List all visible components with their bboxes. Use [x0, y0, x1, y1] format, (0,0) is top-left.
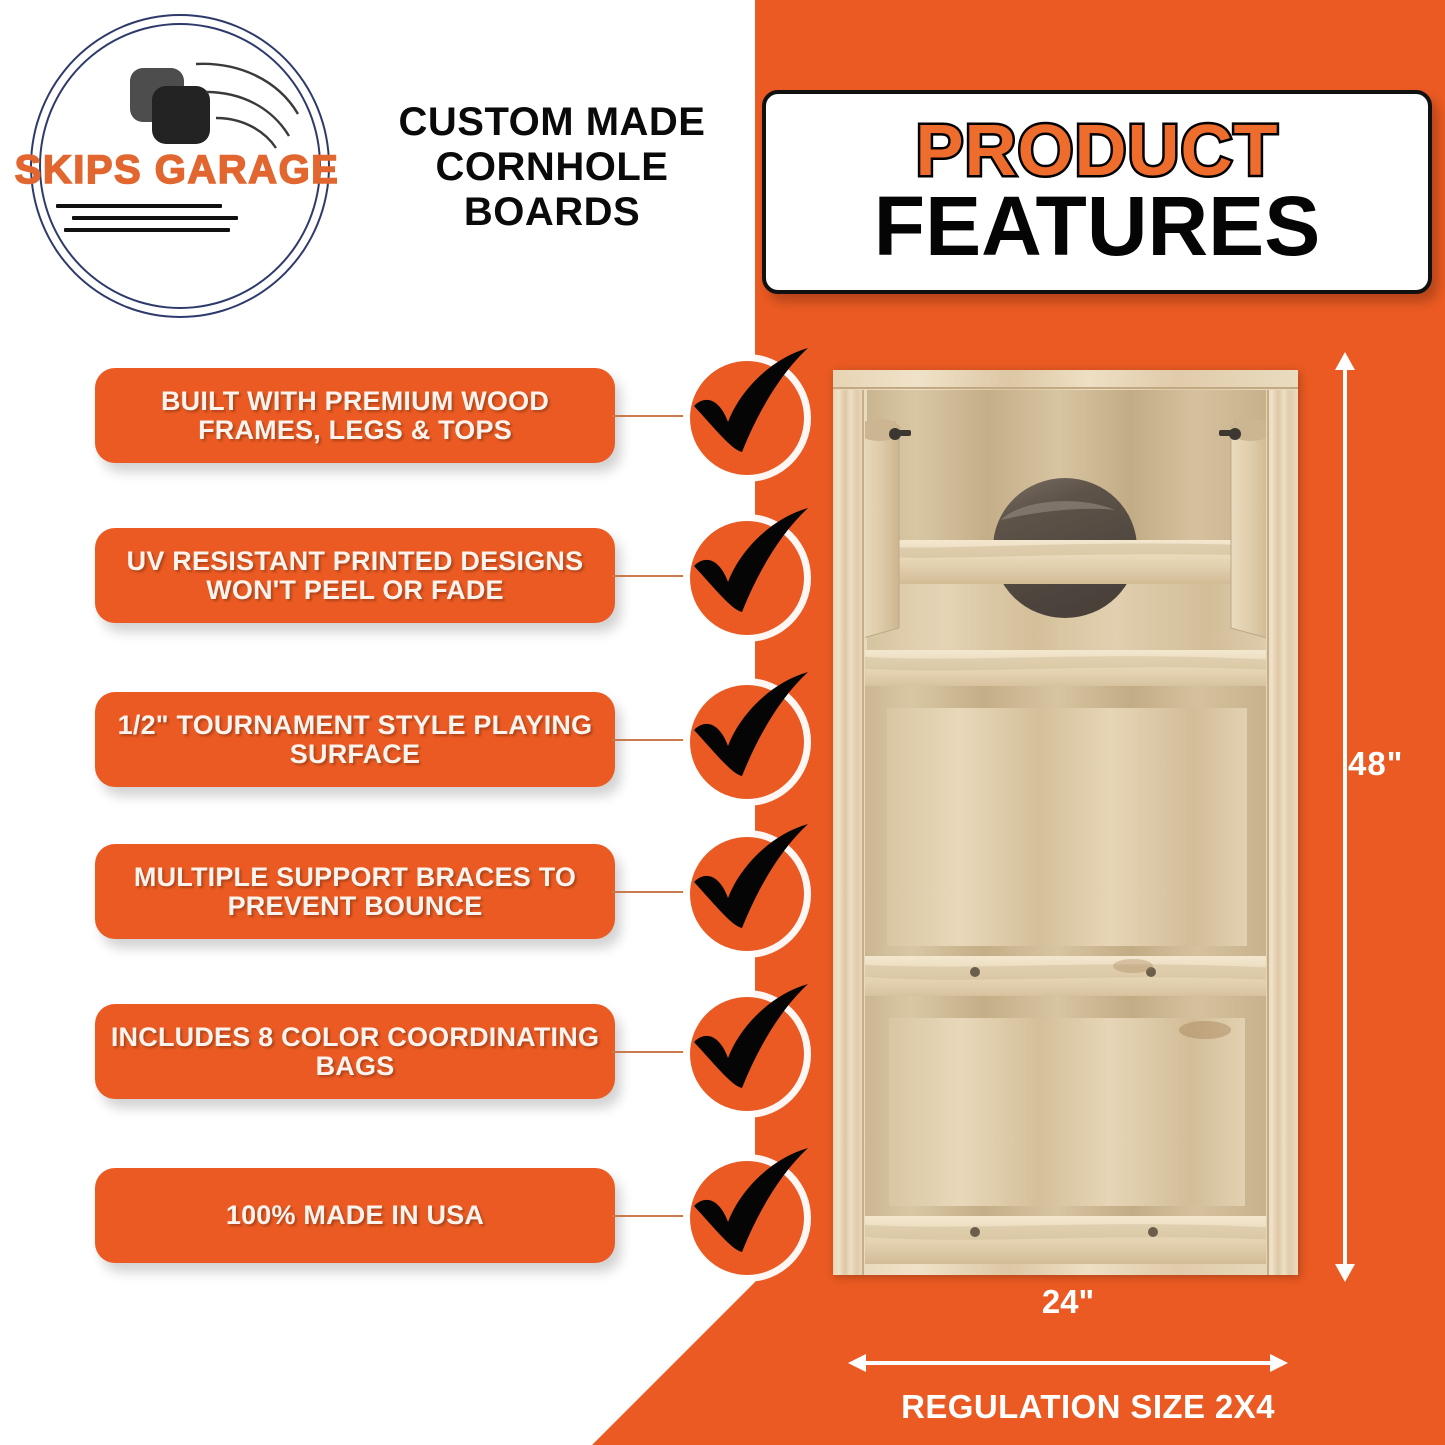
infographic-root: SKIPS GARAGE CUSTOM MADE CORNHOLE BOARDS…	[0, 0, 1445, 1445]
feature-row: BUILT WITH PREMIUM WOOD FRAMES, LEGS & T…	[0, 368, 860, 508]
banner-title-product: PRODUCT	[916, 117, 1279, 185]
check-icon	[676, 820, 818, 962]
feature-label: 1/2" TOURNAMENT STYLE PLAYING SURFACE	[109, 711, 601, 768]
feature-list: BUILT WITH PREMIUM WOOD FRAMES, LEGS & T…	[0, 0, 860, 1445]
check-icon	[676, 668, 818, 810]
width-dimension-label: 24"	[848, 1283, 1288, 1321]
check-icon	[676, 504, 818, 646]
height-dimension-label: 48"	[1348, 745, 1403, 783]
feature-pill[interactable]: UV RESISTANT PRINTED DESIGNS WON'T PEEL …	[95, 528, 615, 623]
feature-row: MULTIPLE SUPPORT BRACES TO PREVENT BOUNC…	[0, 844, 860, 984]
width-dimension-arrow	[848, 1350, 1288, 1376]
check-icon	[676, 980, 818, 1122]
height-dimension-arrow	[1330, 352, 1360, 1282]
banner-title-features: FEATURES	[874, 187, 1320, 267]
feature-label: INCLUDES 8 COLOR COORDINATING BAGS	[109, 1023, 601, 1080]
feature-row: INCLUDES 8 COLOR COORDINATING BAGS	[0, 1004, 860, 1144]
check-icon	[676, 1144, 818, 1286]
feature-pill[interactable]: BUILT WITH PREMIUM WOOD FRAMES, LEGS & T…	[95, 368, 615, 463]
feature-label: BUILT WITH PREMIUM WOOD FRAMES, LEGS & T…	[109, 387, 601, 444]
feature-label: MULTIPLE SUPPORT BRACES TO PREVENT BOUNC…	[109, 863, 601, 920]
feature-pill[interactable]: 1/2" TOURNAMENT STYLE PLAYING SURFACE	[95, 692, 615, 787]
feature-row: 100% MADE IN USA	[0, 1168, 860, 1308]
product-image	[833, 370, 1298, 1275]
product-features-banner: PRODUCT FEATURES	[762, 90, 1432, 294]
feature-label: UV RESISTANT PRINTED DESIGNS WON'T PEEL …	[109, 547, 601, 604]
feature-pill[interactable]: INCLUDES 8 COLOR COORDINATING BAGS	[95, 1004, 615, 1099]
check-icon	[676, 344, 818, 486]
cornhole-board-underside-illustration	[833, 370, 1298, 1275]
regulation-size-label: REGULATION SIZE 2X4	[828, 1388, 1348, 1426]
feature-label: 100% MADE IN USA	[226, 1201, 484, 1230]
feature-pill[interactable]: 100% MADE IN USA	[95, 1168, 615, 1263]
feature-row: UV RESISTANT PRINTED DESIGNS WON'T PEEL …	[0, 528, 860, 668]
feature-row: 1/2" TOURNAMENT STYLE PLAYING SURFACE	[0, 692, 860, 832]
feature-pill[interactable]: MULTIPLE SUPPORT BRACES TO PREVENT BOUNC…	[95, 844, 615, 939]
